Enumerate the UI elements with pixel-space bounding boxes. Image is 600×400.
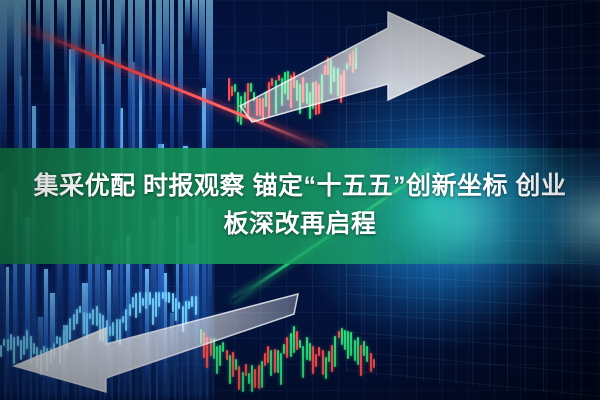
price-tick xyxy=(3,339,5,346)
price-tick xyxy=(322,350,324,375)
bar-column-top xyxy=(7,0,14,85)
headline-line-2: 板深改再启程 xyxy=(223,208,376,242)
price-tick xyxy=(325,357,327,379)
price-tick xyxy=(315,354,317,367)
price-tick xyxy=(363,341,365,356)
arrow-upper-right-icon xyxy=(238,10,488,130)
bar-column-top xyxy=(36,0,40,44)
price-tick xyxy=(370,353,372,372)
price-tick xyxy=(331,345,333,373)
bar-column-top xyxy=(78,0,81,71)
price-tick xyxy=(228,78,230,101)
bar-column-top xyxy=(178,0,183,172)
price-tick xyxy=(338,331,340,338)
headline-line-1: 集采优配 时报观察 锚定“十五五”创新坐标 创业 xyxy=(34,170,567,204)
price-tick xyxy=(306,337,308,360)
price-tick xyxy=(309,343,311,361)
price-tick xyxy=(318,347,320,355)
price-tick xyxy=(231,86,233,96)
price-tick xyxy=(312,346,314,375)
bar-column-top xyxy=(149,0,152,132)
bar-column-top xyxy=(135,0,142,100)
price-tick xyxy=(344,330,346,350)
bar-column-top xyxy=(85,0,92,116)
bar-column-top xyxy=(21,0,26,84)
price-tick xyxy=(334,336,336,367)
price-tick xyxy=(7,339,9,351)
price-tick xyxy=(373,359,375,368)
price-tick xyxy=(341,328,343,345)
price-tick xyxy=(357,337,359,366)
price-tick xyxy=(234,84,236,92)
price-tick xyxy=(328,351,330,362)
price-tick xyxy=(347,331,349,359)
bar-column-top xyxy=(0,0,7,170)
bar-column-top xyxy=(107,0,110,63)
price-tick xyxy=(350,332,352,356)
bar-column-top xyxy=(128,0,133,168)
price-tick xyxy=(302,346,304,378)
bar-column-top xyxy=(121,0,125,52)
bar-column-top xyxy=(163,0,169,106)
bar-column-top xyxy=(192,0,198,55)
price-tick xyxy=(354,340,356,361)
price-tick xyxy=(366,346,368,362)
bar-column-top xyxy=(99,0,102,172)
arrow-lower-left-icon xyxy=(10,288,300,398)
price-tick xyxy=(360,345,362,377)
price-tick xyxy=(0,345,2,357)
cover-image: 集采优配 时报观察 锚定“十五五”创新坐标 创业 板深改再启程 xyxy=(0,0,600,400)
bar-column-top xyxy=(199,0,205,85)
bar-column-top xyxy=(142,0,145,130)
bar-column-top xyxy=(43,0,50,96)
bar-column-top xyxy=(185,0,190,40)
page-title: 集采优配 时报观察 锚定“十五五”创新坐标 创业 板深改再启程 xyxy=(0,152,600,260)
